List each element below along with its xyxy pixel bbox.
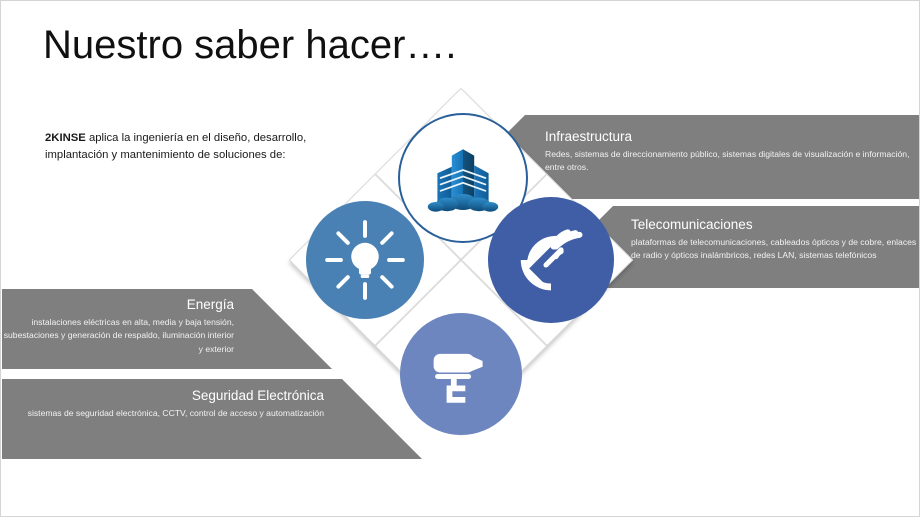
- banner-body-telecomunicaciones: plataformas de telecomunicaciones, cable…: [631, 236, 920, 263]
- light-bulb-rays-icon[interactable]: [306, 201, 424, 319]
- brand-name: 2KINSE: [45, 132, 86, 144]
- banner-body-seguridad: sistemas de seguridad electrónica, CCTV,…: [2, 407, 324, 420]
- banner-energia[interactable]: Energía instalaciones eléctricas en alta…: [2, 289, 332, 369]
- diamond-cluster: [288, 113, 634, 459]
- slide-canvas: Nuestro saber hacer…. 2KINSE aplica la i…: [0, 0, 920, 517]
- banner-body-energia: instalaciones eléctricas en alta, media …: [2, 316, 234, 356]
- banner-title-energia: Energía: [2, 297, 234, 314]
- banner-title-telecomunicaciones: Telecomunicaciones: [631, 217, 920, 234]
- page-title: Nuestro saber hacer….: [43, 23, 457, 67]
- cctv-camera-icon[interactable]: [400, 313, 522, 435]
- banner-title-seguridad: Seguridad Electrónica: [2, 388, 324, 405]
- satellite-dish-signal-icon[interactable]: [488, 197, 614, 323]
